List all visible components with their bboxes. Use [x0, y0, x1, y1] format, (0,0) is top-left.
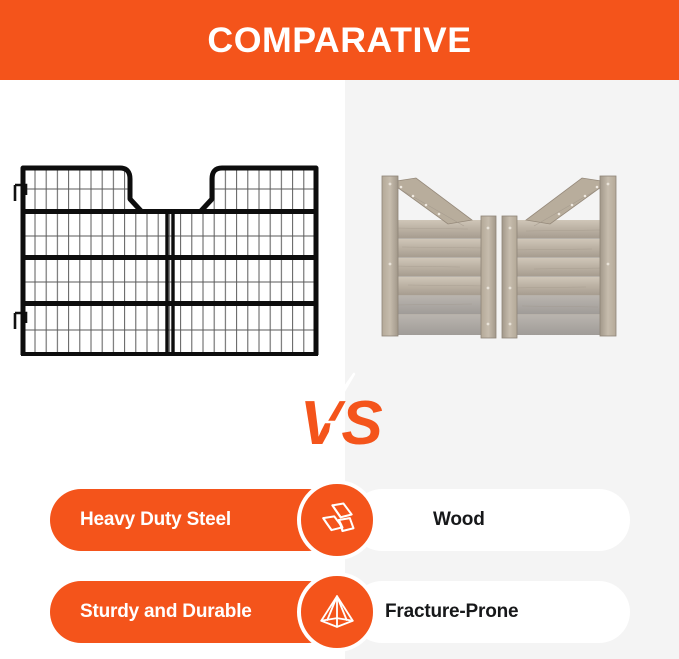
wood-gate-image [368, 168, 630, 358]
steel-ingots-icon [315, 498, 359, 542]
page-title: COMPARATIVE [207, 23, 471, 58]
right-panel-background [345, 80, 679, 659]
pyramid-badge [297, 572, 377, 652]
pyramid-wireframe-icon [316, 591, 358, 633]
versus-badge: VS [292, 372, 388, 468]
versus-label: VS [300, 389, 383, 458]
comparative-infographic: COMPARATIVE [0, 0, 679, 659]
pill-left-label: Heavy Duty Steel [50, 509, 231, 531]
pill-right-fracture[interactable]: Fracture-Prone [351, 581, 630, 643]
steel-gate-image [12, 163, 330, 363]
steel-ingots-badge [297, 480, 377, 560]
pill-left-steel[interactable]: Heavy Duty Steel [50, 489, 339, 551]
wood-gate-svg [368, 168, 630, 358]
pill-left-label: Sturdy and Durable [50, 601, 252, 623]
steel-gate-svg [12, 163, 330, 363]
pill-left-durable[interactable]: Sturdy and Durable [50, 581, 339, 643]
comparison-row: Heavy Duty Steel Wood [0, 489, 679, 551]
versus-icon: VS [292, 372, 388, 468]
header-banner: COMPARATIVE [0, 0, 679, 80]
comparison-row: Sturdy and Durable Fracture-Prone [0, 581, 679, 643]
pill-right-wood[interactable]: Wood [351, 489, 630, 551]
